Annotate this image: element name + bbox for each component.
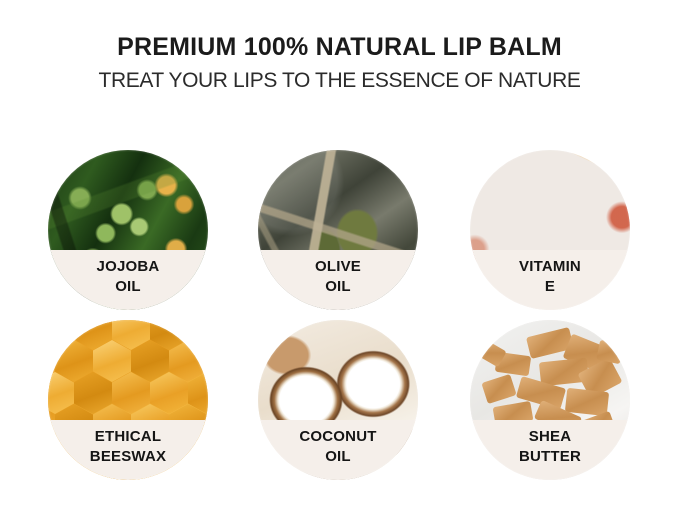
ingredient-circle: VITAMIN E	[470, 150, 630, 310]
ingredient-label: OLIVE OIL	[315, 257, 361, 297]
ingredient-label-band: OLIVE OIL	[258, 250, 418, 310]
ingredient-card-ethical-beeswax[interactable]: ETHICAL BEESWAX	[48, 320, 208, 480]
ingredient-circle: OLIVE OIL	[258, 150, 418, 310]
ingredient-label-band: JOJOBA OIL	[48, 250, 208, 310]
ingredient-label-band: COCONUT OIL	[258, 420, 418, 480]
ingredient-label: SHEA BUTTER	[519, 427, 581, 467]
ingredient-label-band: ETHICAL BEESWAX	[48, 420, 208, 480]
ingredient-label: ETHICAL BEESWAX	[90, 427, 166, 467]
ingredient-card-olive-oil[interactable]: OLIVE OIL	[258, 150, 418, 310]
ingredient-circle: ETHICAL BEESWAX	[48, 320, 208, 480]
shea-chunk	[481, 374, 516, 404]
shea-chunk	[565, 388, 609, 416]
ingredient-card-vitamin-e[interactable]: VITAMIN E	[470, 150, 630, 310]
ingredient-card-coconut-oil[interactable]: COCONUT OIL	[258, 320, 418, 480]
ingredient-circle: SHEA BUTTER	[470, 320, 630, 480]
ingredient-label-band: VITAMIN E	[470, 250, 630, 310]
ingredient-circle: COCONUT OIL	[258, 320, 418, 480]
ingredient-card-shea-butter[interactable]: SHEA BUTTER	[470, 320, 630, 480]
ingredient-label: VITAMIN E	[519, 257, 581, 297]
ingredient-card-jojoba-oil[interactable]: JOJOBA OIL	[48, 150, 208, 310]
ingredient-label: COCONUT OIL	[299, 427, 376, 467]
ingredient-grid: JOJOBA OIL OLIVE OIL VITAMIN E ETHICA	[0, 0, 679, 509]
ingredient-label: JOJOBA OIL	[97, 257, 160, 297]
ingredient-label-band: SHEA BUTTER	[470, 420, 630, 480]
ingredient-circle: JOJOBA OIL	[48, 150, 208, 310]
